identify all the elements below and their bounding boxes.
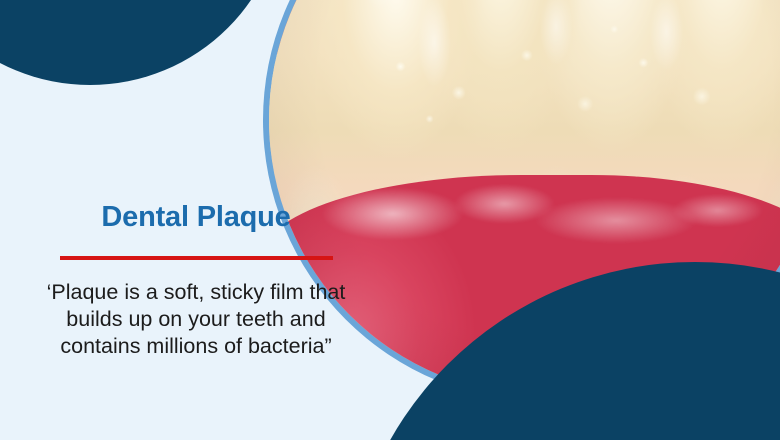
navy-circle-top-left-decoration — [0, 0, 285, 85]
slide-canvas: Dental Plaque ‘Plaque is a soft, sticky … — [0, 0, 780, 440]
text-block: Dental Plaque ‘Plaque is a soft, sticky … — [0, 202, 392, 360]
page-title: Dental Plaque — [0, 202, 392, 234]
title-underline-rule — [60, 256, 333, 260]
quote-text: ‘Plaque is a soft, sticky film that buil… — [42, 279, 350, 360]
